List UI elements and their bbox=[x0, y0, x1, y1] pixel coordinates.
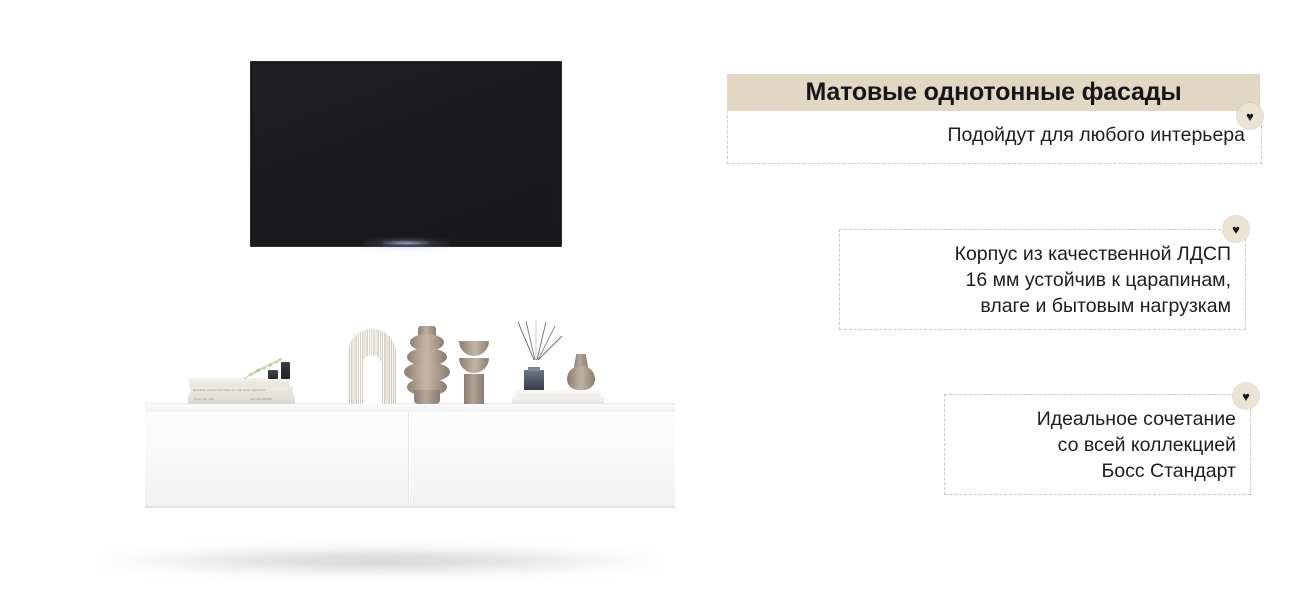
white-book-top bbox=[515, 390, 601, 397]
book-spine-text-3: MODERN ARCHITECTURE OF THE 20TH CENTURY bbox=[193, 390, 266, 393]
candlestick-bowl-middle bbox=[459, 358, 489, 373]
candlestick-stem bbox=[464, 374, 484, 404]
heart-icon: ♥ bbox=[1233, 383, 1259, 409]
white-tv-cabinet bbox=[145, 403, 675, 508]
arch-sculpture bbox=[348, 329, 396, 404]
cabinet-drop-shadow bbox=[100, 548, 660, 574]
feature-callouts: Матовые однотонные фасады Подойдут для л… bbox=[710, 0, 1310, 608]
diffuser-and-vase-group bbox=[512, 320, 604, 404]
heart-glyph: ♥ bbox=[1232, 223, 1240, 236]
diffuser-cap bbox=[528, 367, 540, 371]
cabinet-bottom-edge bbox=[145, 506, 675, 508]
tv-screen bbox=[253, 64, 559, 241]
heart-glyph: ♥ bbox=[1242, 390, 1250, 403]
feature-2-body: Корпус из качественной ЛДСП 16 мм устойч… bbox=[839, 241, 1231, 319]
heart-icon: ♥ bbox=[1237, 103, 1263, 129]
plant-sprig-icon bbox=[240, 357, 286, 381]
heart-glyph: ♥ bbox=[1246, 110, 1254, 123]
book-stack-left: Prints No. 195 ACTIVE PAPER MODERN ARCHI… bbox=[188, 375, 295, 404]
tv-standby-glow bbox=[363, 240, 449, 252]
heart-icon: ♥ bbox=[1223, 216, 1249, 242]
stacked-bowl-candlestick bbox=[458, 341, 490, 404]
diffuser-reeds-icon bbox=[512, 320, 572, 374]
feature-1-body: Подойдут для любого интерьера bbox=[727, 122, 1245, 148]
cabinet-door-left bbox=[145, 412, 409, 508]
feature-1-title: Матовые однотонные фасады bbox=[805, 78, 1181, 107]
feature-1-title-bar: Матовые однотонные фасады bbox=[727, 74, 1260, 111]
feature-3-body: Идеальное сочетание со всей коллекцией Б… bbox=[944, 406, 1236, 484]
arch-opening bbox=[363, 355, 381, 404]
product-scene: Prints No. 195 ACTIVE PAPER MODERN ARCHI… bbox=[0, 0, 710, 608]
candlestick-bowl-top bbox=[459, 341, 489, 356]
diffuser-bottle bbox=[524, 370, 544, 390]
vase-base bbox=[414, 390, 440, 404]
black-object-tall bbox=[281, 362, 290, 379]
black-object-short bbox=[268, 370, 278, 379]
bulbous-vase bbox=[403, 326, 451, 404]
book-spine-text-2: ACTIVE PAPER bbox=[250, 399, 272, 402]
white-book-bottom bbox=[512, 397, 604, 404]
small-round-vase bbox=[567, 354, 595, 390]
cabinet-top-surface bbox=[145, 403, 675, 412]
small-vase-body bbox=[567, 366, 595, 390]
feature-matte-facades: Матовые однотонные фасады Подойдут для л… bbox=[727, 74, 1262, 164]
feature-chipboard-body: Корпус из качественной ЛДСП 16 мм устойч… bbox=[839, 229, 1249, 330]
wall-mounted-tv bbox=[250, 61, 562, 247]
feature-collection-match: Идеальное сочетание со всей коллекцией Б… bbox=[944, 394, 1255, 495]
book-spine-text-1: Prints No. 195 bbox=[194, 399, 214, 402]
cabinet-door-right bbox=[410, 412, 675, 508]
